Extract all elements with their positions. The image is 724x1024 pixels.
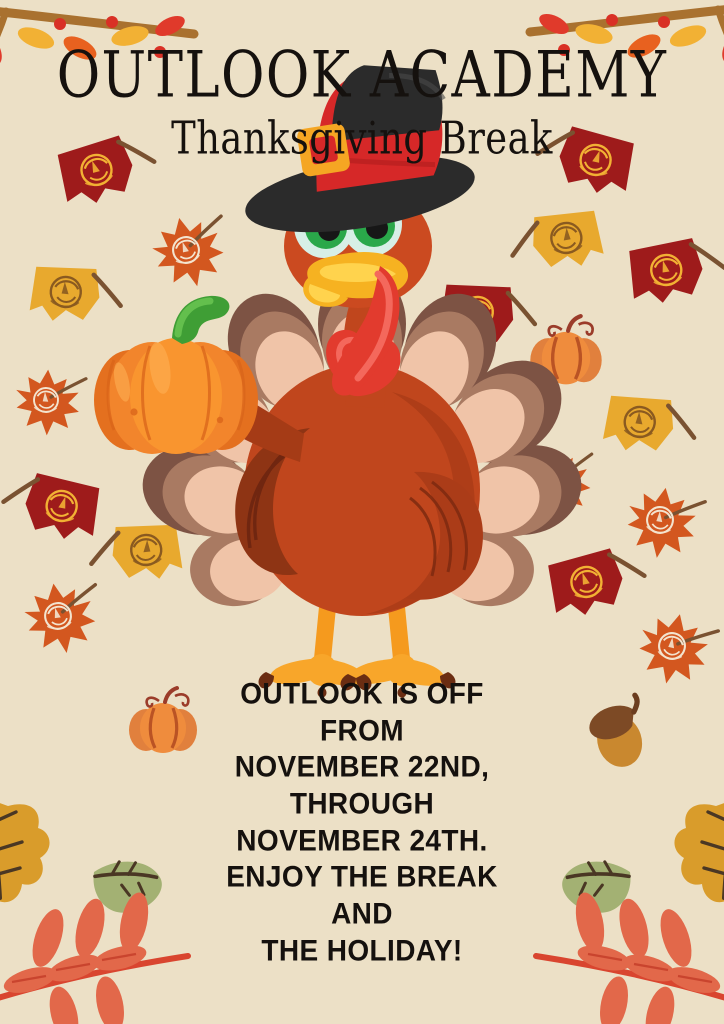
page-title: OUTLOOK ACADEMY — [25, 43, 698, 108]
announcement-line: NOVEMBER 24TH. — [0, 822, 724, 861]
announcement-text: OUTLOOK IS OFF FROM NOVEMBER 22ND, THROU… — [0, 676, 724, 969]
poster-header: OUTLOOK ACADEMY Thanksgiving Break — [0, 46, 724, 162]
announcement-line: FROM — [0, 712, 724, 751]
announcement-line: THE HOLIDAY! — [0, 932, 724, 971]
announcement-line: OUTLOOK IS OFF — [0, 675, 724, 714]
announcement-line: NOVEMBER 22ND, — [0, 748, 724, 787]
announcement-line: ENJOY THE BREAK — [0, 858, 724, 897]
announcement-line: AND — [0, 895, 724, 934]
thanksgiving-poster: OUTLOOK ACADEMY Thanksgiving Break OUTLO… — [0, 0, 724, 1024]
announcement-line: THROUGH — [0, 785, 724, 824]
page-subtitle: Thanksgiving Break — [36, 112, 688, 165]
